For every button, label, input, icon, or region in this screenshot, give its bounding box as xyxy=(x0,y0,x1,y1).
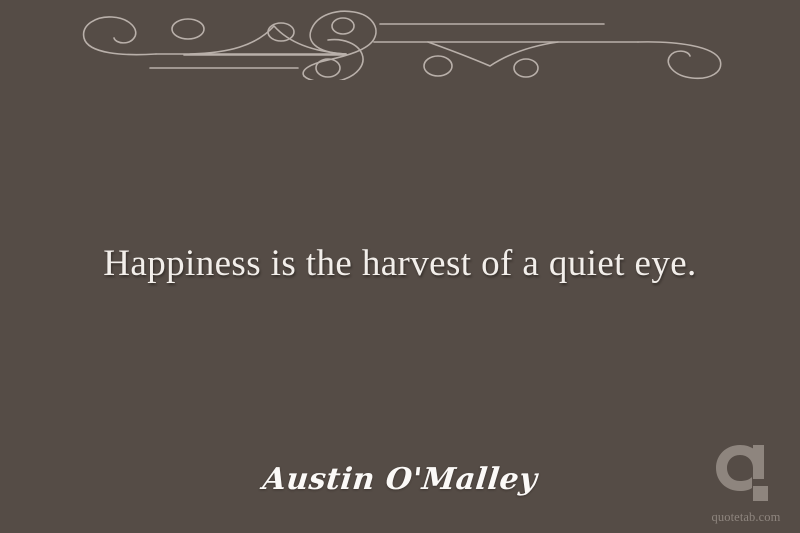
decorative-flourish-divider xyxy=(78,4,728,80)
watermark-label[interactable]: quotetab.com xyxy=(700,510,792,525)
quote-text: Happiness is the harvest of a quiet eye. xyxy=(0,240,800,287)
quotetab-logo-icon[interactable] xyxy=(714,443,776,505)
quote-card: Happiness is the harvest of a quiet eye.… xyxy=(0,0,800,533)
watermark[interactable]: quotetab.com xyxy=(700,441,792,529)
author-name: Austin O'Malley xyxy=(0,462,800,497)
